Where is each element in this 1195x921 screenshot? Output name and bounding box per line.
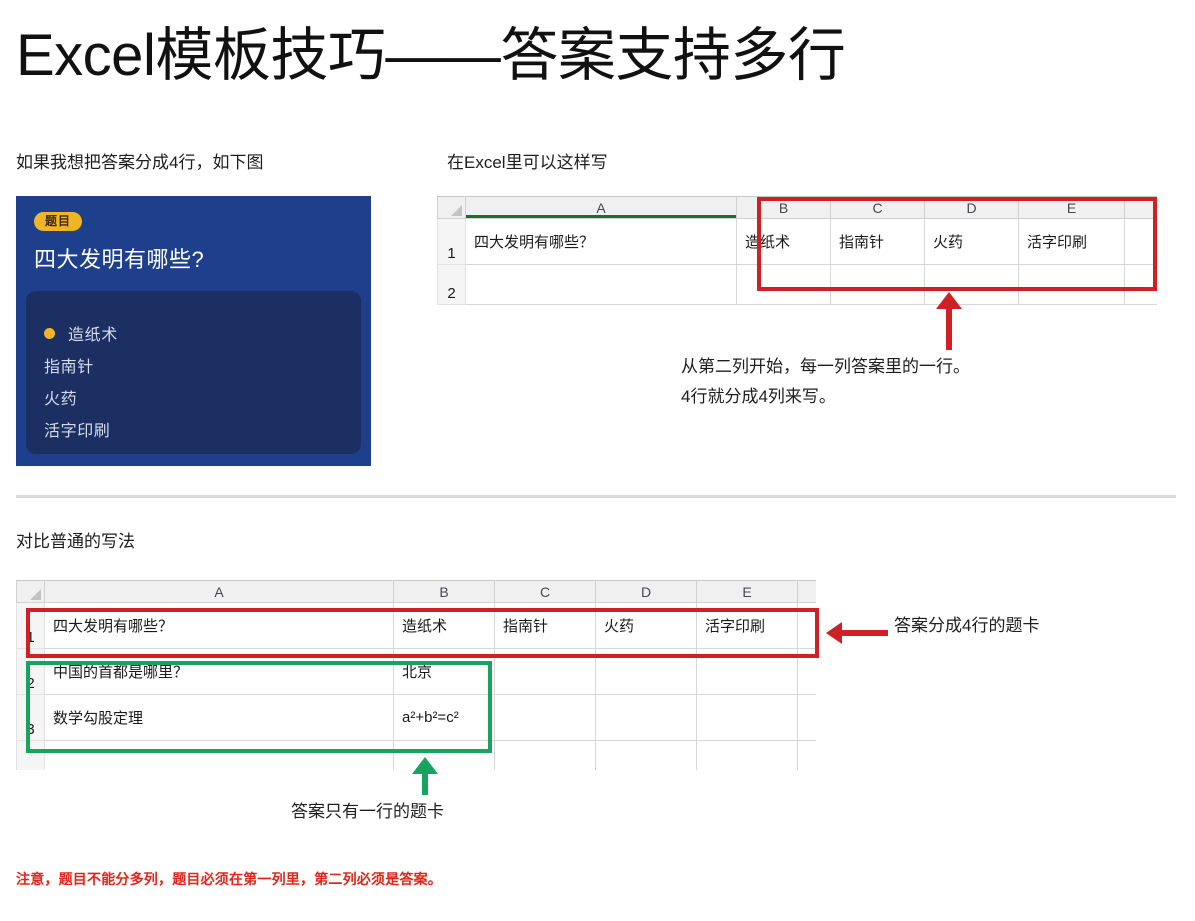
page-title: Excel模板技巧——答案支持多行	[16, 24, 845, 89]
table-row: 1 四大发明有哪些？ 造纸术 指南针 火药 活字印刷	[17, 603, 817, 649]
table-row: 1 四大发明有哪些？ 造纸术 指南针 火药 活字印刷	[438, 219, 1158, 265]
cell-c4[interactable]	[495, 741, 596, 771]
row-number[interactable]	[17, 741, 45, 771]
slide-root: Excel模板技巧——答案支持多行 如果我想把答案分成4行，如下图 在Excel…	[0, 0, 1195, 921]
cell-b2[interactable]: 北京	[394, 649, 495, 695]
annotation-top-line1: 从第二列开始，每一列答案里的一行。	[681, 352, 970, 382]
card-answer-panel: 造纸术 指南针 火药 活字印刷	[26, 291, 361, 454]
table-row: 2 中国的首都是哪里？ 北京	[17, 649, 817, 695]
cell-b2[interactable]	[737, 265, 831, 305]
cell-f4[interactable]	[798, 741, 817, 771]
row-number[interactable]: 3	[17, 695, 45, 741]
column-header-c[interactable]: C	[495, 581, 596, 603]
select-all-corner[interactable]	[17, 581, 45, 603]
arrow-head	[826, 622, 842, 644]
column-header-row: A B C D E	[438, 197, 1158, 219]
cell-c1[interactable]: 指南针	[495, 603, 596, 649]
annotation-green: 答案只有一行的题卡	[291, 797, 444, 827]
spreadsheet-table: A B C D E 1 四大发明有哪些？ 造纸术 指南针 火药 活字印刷	[16, 580, 816, 770]
column-header-a[interactable]: A	[45, 581, 394, 603]
cell-f1[interactable]	[798, 603, 817, 649]
column-header-d[interactable]: D	[596, 581, 697, 603]
column-header-f[interactable]	[798, 581, 817, 603]
cell-d2[interactable]	[596, 649, 697, 695]
arrow-shaft	[842, 630, 888, 636]
column-header-row: A B C D E	[17, 581, 817, 603]
column-header-e[interactable]: E	[1019, 197, 1125, 219]
arrow-shaft	[946, 308, 952, 350]
answer-label: 活字印刷	[44, 417, 110, 441]
question-badge: 题目	[34, 212, 82, 231]
excel-sheet-top[interactable]: A B C D E 1 四大发明有哪些？ 造纸术 指南针 火药 活字印刷	[437, 196, 1157, 306]
red-left-arrow-icon	[826, 622, 888, 644]
cell-a4[interactable]	[45, 741, 394, 771]
row-number[interactable]: 2	[17, 649, 45, 695]
green-up-arrow-icon	[412, 757, 438, 795]
column-header-d[interactable]: D	[925, 197, 1019, 219]
section-divider	[16, 495, 1176, 498]
column-header-b[interactable]: B	[394, 581, 495, 603]
answer-label: 火药	[44, 385, 77, 409]
cell-b3[interactable]: a²+b²=c²	[394, 695, 495, 741]
column-header-b[interactable]: B	[737, 197, 831, 219]
spreadsheet-table: A B C D E 1 四大发明有哪些？ 造纸术 指南针 火药 活字印刷	[437, 196, 1157, 305]
bullet-dot-icon	[44, 328, 55, 339]
cell-c2[interactable]	[831, 265, 925, 305]
cell-e2[interactable]	[1019, 265, 1125, 305]
cell-e2[interactable]	[697, 649, 798, 695]
column-header-c[interactable]: C	[831, 197, 925, 219]
cell-f2[interactable]	[1125, 265, 1158, 305]
answer-label: 造纸术	[68, 321, 118, 345]
annotation-top-line2: 4行就分成4列来写。	[681, 382, 970, 412]
cell-d4[interactable]	[596, 741, 697, 771]
cell-b1[interactable]: 造纸术	[394, 603, 495, 649]
cell-a1[interactable]: 四大发明有哪些？	[45, 603, 394, 649]
table-row: 2	[438, 265, 1158, 305]
select-all-corner[interactable]	[438, 197, 466, 219]
caption-left: 如果我想把答案分成4行，如下图	[16, 148, 263, 173]
question-card: 题目 四大发明有哪些? 造纸术 指南针 火药 活字印刷	[16, 196, 371, 466]
cell-e1[interactable]: 活字印刷	[697, 603, 798, 649]
answer-item: 活字印刷	[44, 413, 361, 445]
cell-c2[interactable]	[495, 649, 596, 695]
caption-right: 在Excel里可以这样写	[447, 148, 608, 173]
cell-e1[interactable]: 活字印刷	[1019, 219, 1125, 265]
card-question-text: 四大发明有哪些?	[34, 242, 353, 274]
cell-f2[interactable]	[798, 649, 817, 695]
cell-c1[interactable]: 指南针	[831, 219, 925, 265]
red-up-arrow-icon	[936, 292, 962, 350]
row-number[interactable]: 2	[438, 265, 466, 305]
cell-c3[interactable]	[495, 695, 596, 741]
cell-f3[interactable]	[798, 695, 817, 741]
footer-warning-note: 注意，题目不能分多列，题目必须在第一列里，第二列必须是答案。	[16, 869, 442, 889]
cell-d1[interactable]: 火药	[596, 603, 697, 649]
excel-sheet-bottom[interactable]: A B C D E 1 四大发明有哪些？ 造纸术 指南针 火药 活字印刷	[16, 580, 816, 770]
row-number[interactable]: 1	[438, 219, 466, 265]
cell-a3[interactable]: 数学勾股定理	[45, 695, 394, 741]
cell-a2[interactable]: 中国的首都是哪里？	[45, 649, 394, 695]
cell-f1[interactable]	[1125, 219, 1158, 265]
cell-e4[interactable]	[697, 741, 798, 771]
section-label: 对比普通的写法	[16, 527, 135, 552]
answer-item: 火药	[44, 381, 361, 413]
arrow-head	[936, 292, 962, 309]
cell-e3[interactable]	[697, 695, 798, 741]
answer-item: 指南针	[44, 349, 361, 381]
cell-d3[interactable]	[596, 695, 697, 741]
cell-b1[interactable]: 造纸术	[737, 219, 831, 265]
arrow-shaft	[422, 772, 428, 795]
row-number[interactable]: 1	[17, 603, 45, 649]
column-header-f[interactable]	[1125, 197, 1158, 219]
cell-a1[interactable]: 四大发明有哪些？	[466, 219, 737, 265]
cell-b4[interactable]	[394, 741, 495, 771]
column-header-e[interactable]: E	[697, 581, 798, 603]
table-row: 3 数学勾股定理 a²+b²=c²	[17, 695, 817, 741]
cell-d1[interactable]: 火药	[925, 219, 1019, 265]
answer-label: 指南针	[44, 353, 94, 377]
annotation-top: 从第二列开始，每一列答案里的一行。 4行就分成4列来写。	[681, 352, 970, 412]
answer-item: 造纸术	[44, 317, 361, 349]
cell-a2[interactable]	[466, 265, 737, 305]
column-header-a[interactable]: A	[466, 197, 737, 219]
annotation-row1: 答案分成4行的题卡	[894, 611, 1039, 641]
